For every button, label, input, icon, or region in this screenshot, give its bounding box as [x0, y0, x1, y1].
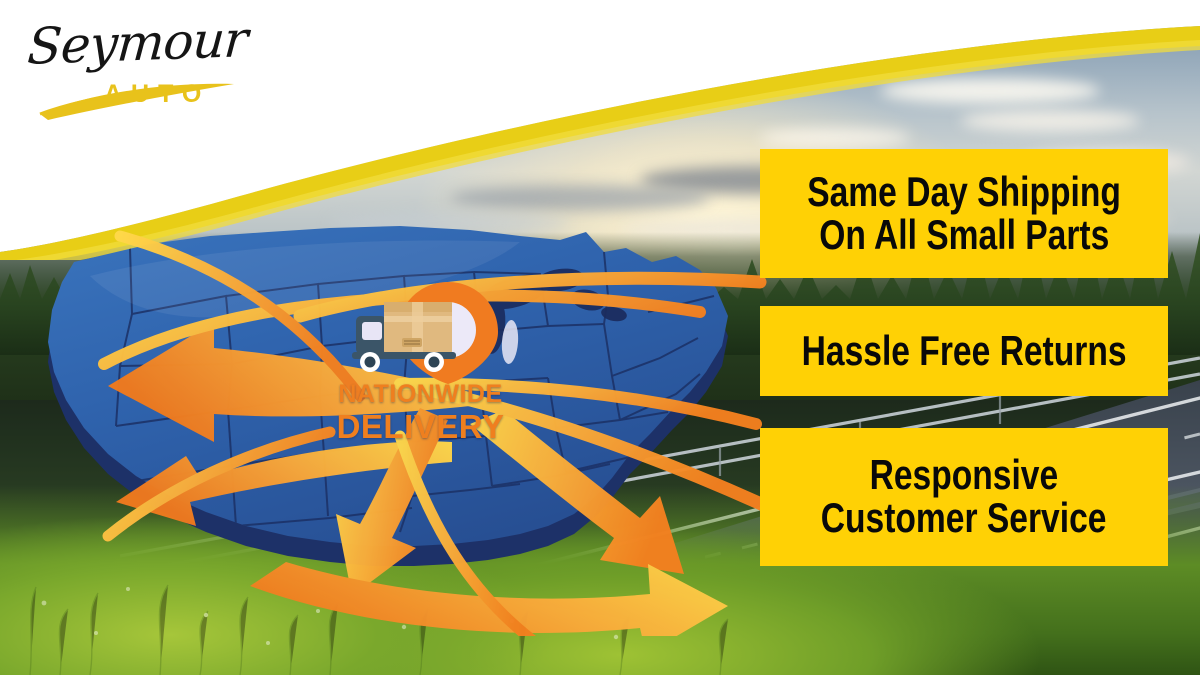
badge-icons — [318, 278, 523, 388]
callout-line: Customer Service — [821, 497, 1107, 540]
callout-line: On All Small Parts — [819, 214, 1109, 257]
logo-swoosh-icon — [22, 14, 252, 124]
callout-line: Same Day Shipping — [807, 171, 1121, 214]
badge-line-nationwide: NATIONWIDE — [318, 380, 523, 409]
nationwide-delivery-badge: NATIONWIDE DELIVERY — [318, 278, 523, 448]
callout-line: Hassle Free Returns — [802, 330, 1127, 373]
callout-responsive-customer-service[interactable]: Responsive Customer Service — [760, 428, 1168, 566]
banner-canvas: Seymour AUTO — [0, 0, 1200, 675]
callout-hassle-free-returns[interactable]: Hassle Free Returns — [760, 306, 1168, 396]
callout-same-day-shipping[interactable]: Same Day Shipping On All Small Parts — [760, 149, 1168, 278]
delivery-truck-icon — [352, 302, 456, 372]
callout-line: Responsive — [870, 454, 1059, 497]
badge-line-delivery: DELIVERY — [318, 408, 523, 446]
brand-logo[interactable]: Seymour AUTO — [22, 14, 252, 124]
